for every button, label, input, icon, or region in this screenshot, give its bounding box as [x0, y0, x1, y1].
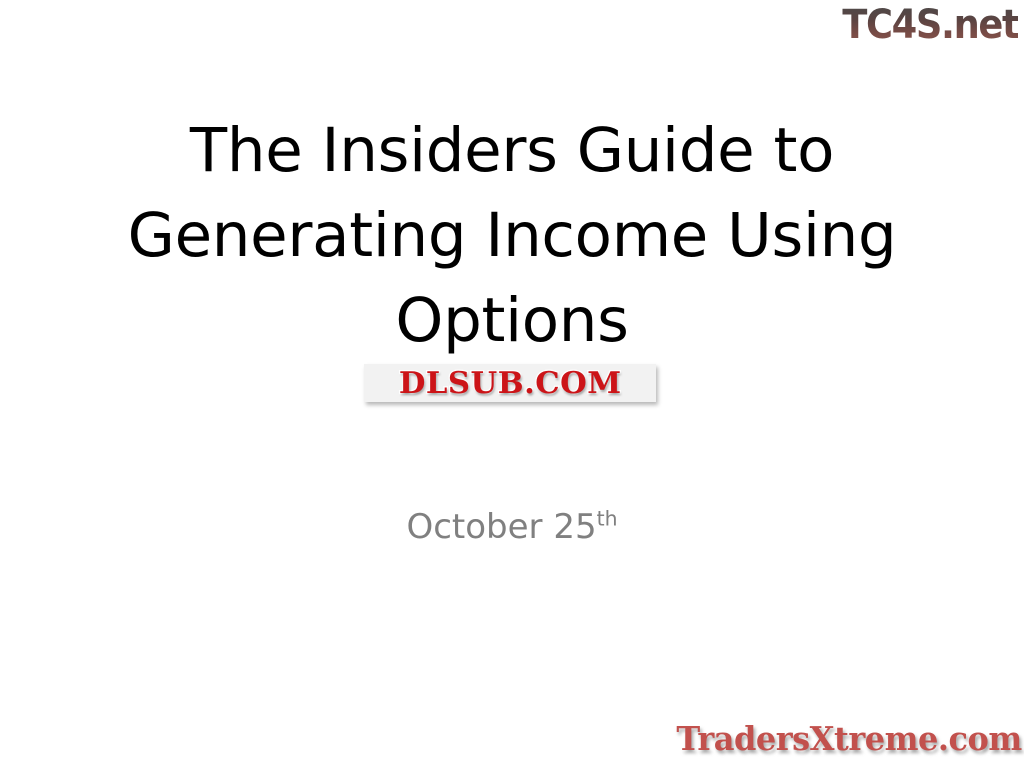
- subtitle-date: October 25: [406, 507, 596, 547]
- presentation-slide: The Insiders Guide to Generating Income …: [0, 0, 1024, 768]
- watermark-tc4s: TC4S.net: [842, 2, 1018, 48]
- slide-subtitle: October 25th: [0, 505, 1024, 549]
- title-line-3: Options: [0, 278, 1024, 363]
- watermark-dlsub: DLSUB.COM: [364, 364, 656, 402]
- watermark-dlsub-label: DLSUB.COM: [399, 366, 622, 401]
- page-title: The Insiders Guide to Generating Income …: [0, 108, 1024, 363]
- watermark-tradersxtreme: TradersXtreme.com: [681, 716, 1017, 760]
- watermark-tradersxtreme-label: TradersXtreme.com: [676, 719, 1021, 758]
- title-line-1: The Insiders Guide to: [0, 108, 1024, 193]
- title-line-2: Generating Income Using: [0, 193, 1024, 278]
- subtitle-ordinal-suffix: th: [597, 507, 618, 531]
